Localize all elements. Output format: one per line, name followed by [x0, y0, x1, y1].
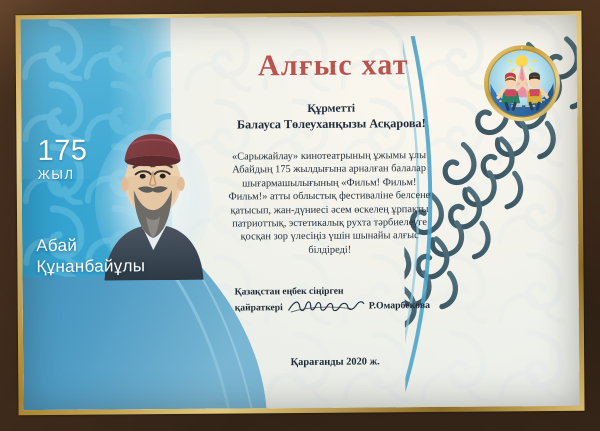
- anniversary-number: 175: [37, 137, 87, 166]
- body-text: «Сарыжайлау» кинотеатрының ұжымы ұлы Аба…: [182, 149, 478, 259]
- anniversary-badge: 175 ЖЫЛ: [37, 137, 87, 181]
- signature-block: Қазақстан еңбек сіңірген қайраткері Р.Ом…: [235, 284, 430, 315]
- salutation-line-2: Балауса Төлеуханқызы Асқарова!: [181, 116, 481, 133]
- handwritten-signature-icon: [287, 297, 365, 314]
- framed-certificate-photo: Алғыс хат Құрметті Балауса Төлеуханқызы …: [0, 0, 600, 431]
- signer-title-line-2: қайраткері: [235, 301, 283, 314]
- page-title: Алғыс хат: [206, 48, 461, 84]
- place-and-date: Қарағанды 2020 ж.: [235, 356, 435, 369]
- honoree-name-line-2: Құнанбайұлы: [36, 255, 186, 277]
- body-line: білдіреді!: [182, 242, 477, 258]
- anniversary-unit: ЖЫЛ: [38, 168, 88, 181]
- honoree-name-line-1: Абай: [36, 234, 186, 256]
- certificate-sheet: Алғыс хат Құрметті Балауса Төлеуханқызы …: [20, 15, 579, 410]
- honoree-name: Абай Құнанбайұлы: [36, 234, 186, 277]
- certificate-content: Алғыс хат Құрметті Балауса Төлеуханқызы …: [20, 15, 579, 410]
- salutation: Құрметті Балауса Төлеуханқызы Асқарова!: [181, 101, 481, 133]
- signer-name: Р.Омарбекова: [369, 299, 430, 313]
- festival-emblem-icon: [482, 43, 563, 124]
